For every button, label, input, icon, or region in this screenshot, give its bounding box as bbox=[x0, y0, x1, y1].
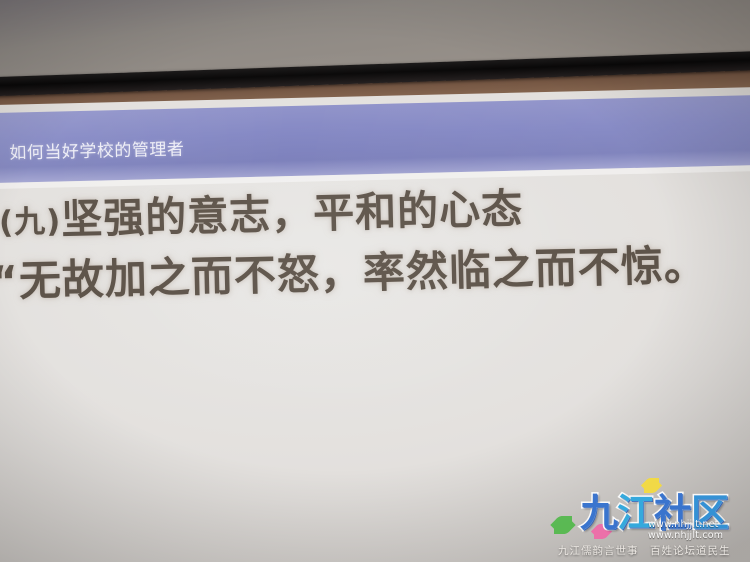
watermark-url-2: www.nhjjlt.com bbox=[648, 531, 723, 542]
slide-header-title: 如何当好学校的管理者 bbox=[9, 135, 185, 164]
watermark-urls: www.nhjjlt.net www.nhjjlt.com bbox=[648, 520, 723, 541]
slide-body-line-1: (九)坚强的意志，平和的心态 bbox=[0, 189, 524, 242]
slide-body-line-2: “无故加之而不怒，率然临之而不惊。 bbox=[0, 244, 707, 303]
screenshot-root: 如何当好学校的管理者 (九)坚强的意志，平和的心态 “无故加之而不怒，率然临之而… bbox=[0, 0, 750, 562]
watermark-brand-char-1: 九 bbox=[580, 491, 617, 535]
slide-body-line-1-enumerator: (九) bbox=[0, 203, 62, 240]
watermark-logo: 九江社区 www.nhjjlt.net www.nhjjlt.com 九江儒韵言… bbox=[552, 480, 744, 560]
slide-body-line-1-text: 坚强的意志，平和的心态 bbox=[61, 185, 524, 244]
watermark-url-1: www.nhjjlt.net bbox=[648, 520, 723, 531]
watermark-tagline: 九江儒韵言世事 百姓论坛道民生 bbox=[558, 543, 731, 558]
flower-green-icon bbox=[554, 516, 572, 534]
